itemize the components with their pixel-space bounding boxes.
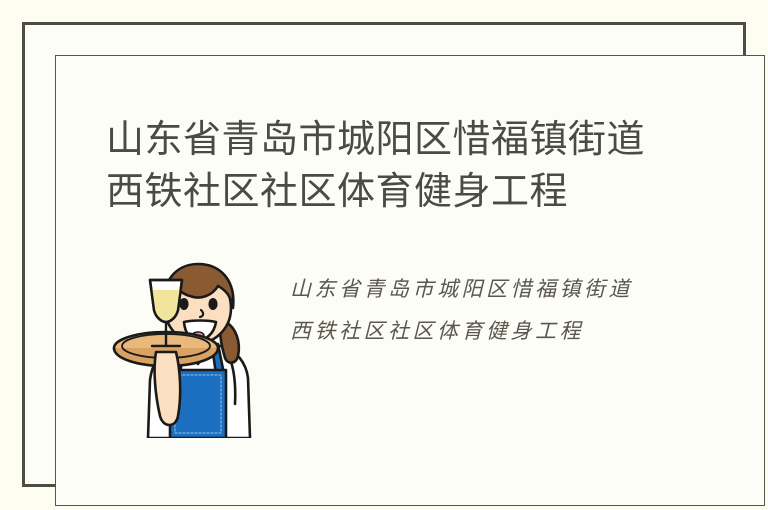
outer-frame-border: 山东省青岛市城阳区惜福镇街道 西铁社区社区体育健身工程 [22, 22, 746, 487]
inner-frame-border: 山东省青岛市城阳区惜福镇街道 西铁社区社区体育健身工程 [55, 55, 765, 506]
waitress-with-tray-illustration [108, 252, 273, 438]
body-text-line-1: 山东省青岛市城阳区惜福镇街道 [290, 268, 740, 310]
content-block: 山东省青岛市城阳区惜福镇街道 西铁社区社区体育健身工程 [108, 252, 748, 442]
body-text-block: 山东省青岛市城阳区惜福镇街道 西铁社区社区体育健身工程 [290, 268, 740, 352]
page-title: 山东省青岛市城阳区惜福镇街道 西铁社区社区体育健身工程 [106, 114, 746, 218]
body-text-line-2: 西铁社区社区体育健身工程 [290, 310, 740, 352]
page-title-line-2: 西铁社区社区体育健身工程 [106, 166, 746, 218]
page-title-line-1: 山东省青岛市城阳区惜福镇街道 [106, 114, 746, 166]
poster-page: 山东省青岛市城阳区惜福镇街道 西铁社区社区体育健身工程 [0, 0, 768, 510]
hand-shape [155, 352, 181, 425]
